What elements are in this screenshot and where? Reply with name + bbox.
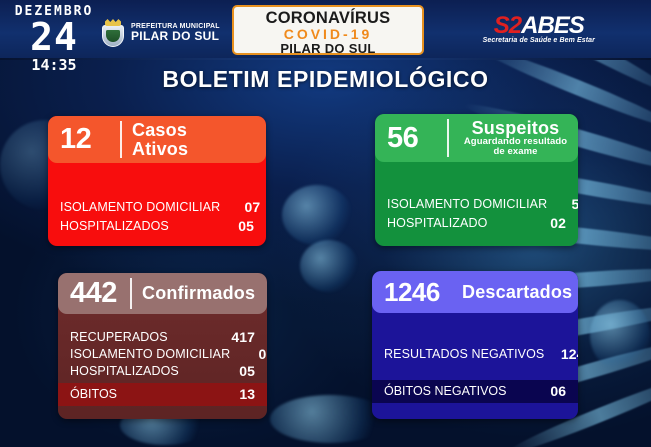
- logo-subtitle: Secretaria de Saúde e Bem Estar: [483, 37, 595, 44]
- row-label: ÓBITOS NEGATIVOS: [384, 384, 506, 398]
- bulletin-poster: DEZEMBRO 24 14:35 PREFEITURA MUNICIPAL P…: [0, 0, 651, 447]
- row-value: 06: [518, 383, 566, 399]
- prefeitura-logo: PREFEITURA MUNICIPAL PILAR DO SUL: [100, 18, 220, 48]
- card-header: 56 Suspeitos Aguardando resultado de exa…: [375, 114, 578, 162]
- card-rows: RECUPERADOS 417 ISOLAMENTO DOMICILIAR 07…: [58, 328, 267, 379]
- row-value: 1240: [544, 346, 578, 362]
- card-count: 442: [70, 277, 128, 310]
- table-row: ISOLAMENTO DOMICILIAR 07: [60, 197, 254, 216]
- card-descartados: 1246 Descartados RESULTADOS NEGATIVOS 12…: [372, 271, 578, 419]
- card-rows: ISOLAMENTO DOMICILIAR 07 HOSPITALIZADOS …: [48, 197, 266, 235]
- date-day: 24: [8, 19, 100, 55]
- row-value: 54: [547, 196, 578, 212]
- logo-mark-prefix: S2: [494, 12, 521, 39]
- obitos-negativos-row: ÓBITOS NEGATIVOS 06: [372, 380, 578, 403]
- card-suspeitos: 56 Suspeitos Aguardando resultado de exa…: [375, 114, 578, 246]
- table-row: HOSPITALIZADO 02: [387, 213, 566, 232]
- card-title: Confirmados: [142, 284, 255, 303]
- card-confirmados: 442 Confirmados RECUPERADOS 417 ISOLAMEN…: [58, 273, 267, 419]
- row-value: 07: [220, 199, 260, 215]
- row-label: HOSPITALIZADO: [387, 216, 487, 230]
- obitos-row: ÓBITOS 13: [58, 383, 267, 406]
- divider: [447, 119, 449, 157]
- row-value: 05: [214, 218, 254, 234]
- card-rows: RESULTADOS NEGATIVOS 1240: [372, 344, 578, 363]
- health-department-logo: S2ABES Secretaria de Saúde e Bem Estar: [483, 15, 595, 44]
- card-casos-ativos: 12 Casos Ativos ISOLAMENTO DOMICILIAR 07…: [48, 116, 266, 246]
- row-value: 13: [211, 386, 255, 402]
- card-count: 1246: [384, 277, 450, 308]
- prefeitura-line2: PILAR DO SUL: [131, 30, 220, 43]
- banner-line-city: PILAR DO SUL: [234, 42, 422, 56]
- card-subtitle-line2: de exame: [459, 147, 572, 157]
- row-label: RECUPERADOS: [70, 330, 168, 344]
- card-header: 442 Confirmados: [58, 273, 267, 314]
- card-title: Descartados: [462, 283, 572, 302]
- table-row: ISOLAMENTO DOMICILIAR 07: [70, 345, 255, 362]
- row-value: 417: [211, 329, 255, 345]
- row-label: ÓBITOS: [70, 387, 117, 401]
- table-row: ISOLAMENTO DOMICILIAR 54: [387, 194, 566, 213]
- card-rows: ISOLAMENTO DOMICILIAR 54 HOSPITALIZADO 0…: [375, 194, 578, 232]
- row-value: 07: [230, 346, 267, 362]
- banner-line-coronavirus: CORONAVÍRUS: [234, 10, 422, 27]
- banner-line-covid19: COVID-19: [234, 27, 422, 42]
- table-row: HOSPITALIZADOS 05: [60, 216, 254, 235]
- coat-of-arms-icon: [100, 18, 126, 48]
- card-header: 1246 Descartados: [372, 271, 578, 313]
- card-title-line1: Casos: [132, 121, 188, 140]
- card-header: 12 Casos Ativos: [48, 116, 266, 163]
- row-value: 02: [526, 215, 566, 231]
- table-row: HOSPITALIZADOS 05: [70, 362, 255, 379]
- card-title: Suspeitos: [459, 119, 572, 138]
- card-count: 12: [60, 123, 118, 156]
- row-value: 05: [211, 363, 255, 379]
- card-title-line2: Ativos: [132, 140, 188, 159]
- divider: [130, 278, 132, 309]
- date-block: DEZEMBRO 24 14:35: [8, 4, 100, 74]
- row-label: HOSPITALIZADOS: [60, 219, 169, 233]
- row-label: ISOLAMENTO DOMICILIAR: [70, 347, 230, 361]
- row-label: HOSPITALIZADOS: [70, 364, 179, 378]
- row-label: ISOLAMENTO DOMICILIAR: [387, 197, 547, 211]
- divider: [120, 121, 122, 158]
- logo-mark-suffix: ABES: [521, 12, 584, 39]
- row-label: ISOLAMENTO DOMICILIAR: [60, 200, 220, 214]
- table-row: RECUPERADOS 417: [70, 328, 255, 345]
- table-row: RESULTADOS NEGATIVOS 1240: [384, 344, 566, 363]
- card-count: 56: [387, 122, 445, 155]
- coronavirus-banner: CORONAVÍRUS COVID-19 PILAR DO SUL: [232, 5, 424, 55]
- row-label: RESULTADOS NEGATIVOS: [384, 347, 544, 361]
- date-time: 14:35: [8, 56, 100, 74]
